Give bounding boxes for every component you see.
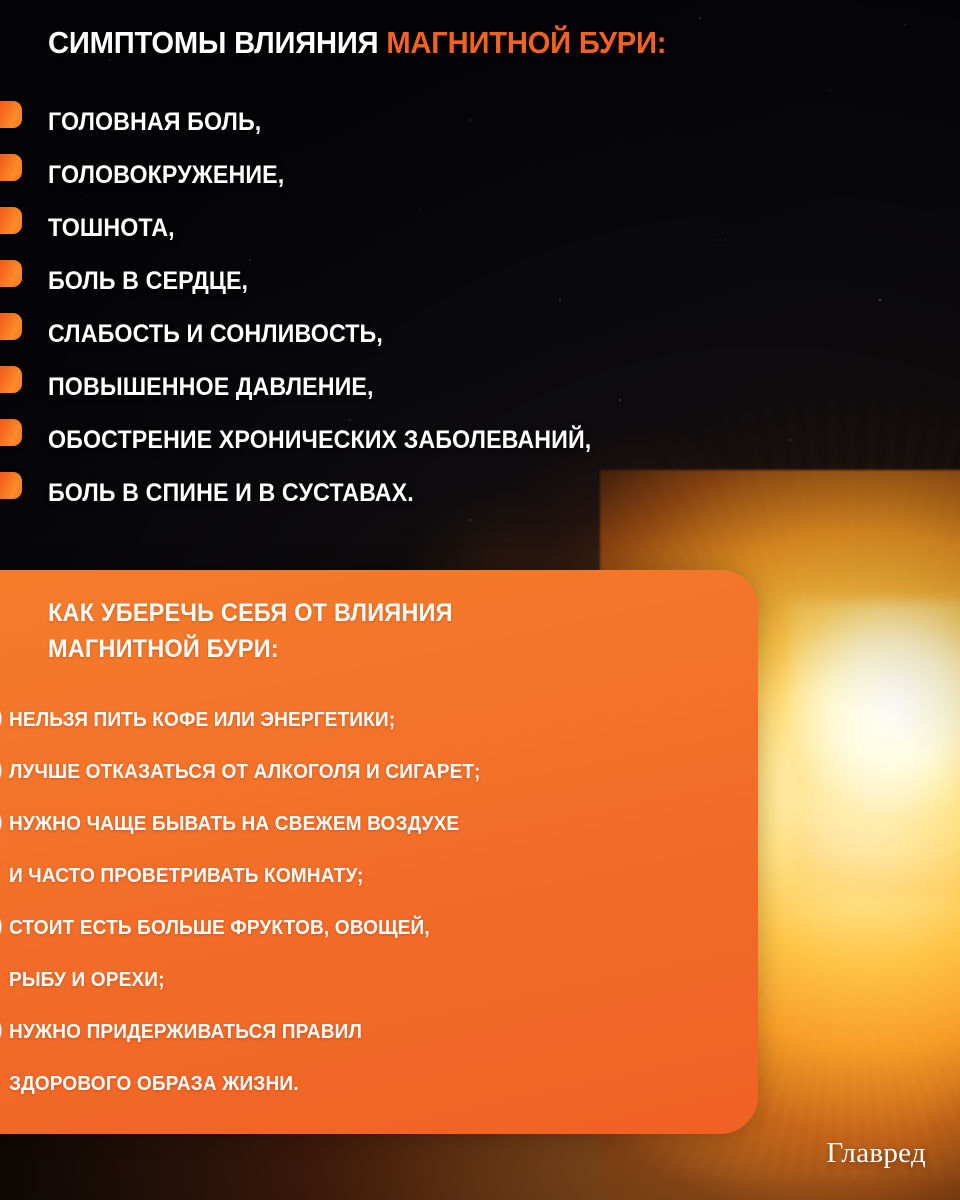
brand-watermark: Главред [827, 1137, 926, 1170]
tip-label: СТОИТ ЕСТЬ БОЛЬШЕ ФРУКТОВ, ОВОЩЕЙ, [9, 916, 430, 940]
tip-label: ЗДОРОВОГО ОБРАЗА ЖИЗНИ. [9, 1072, 299, 1096]
square-bullet-icon [0, 207, 22, 234]
list-item: НУЖНО ПРИДЕРЖИВАТЬСЯ ПРАВИЛ [0, 1006, 740, 1058]
list-item: СЛАБОСТЬ И СОНЛИВОСТЬ, [0, 308, 960, 361]
list-item: СТОИТ ЕСТЬ БОЛЬШЕ ФРУКТОВ, ОВОЩЕЙ, [0, 902, 740, 954]
square-bullet-icon [0, 154, 22, 181]
list-item: БОЛЬ В СЕРДЦЕ, [0, 255, 960, 308]
symptoms-list: ГОЛОВНАЯ БОЛЬ, ГОЛОВОКРУЖЕНИЕ, ТОШНОТА, … [0, 96, 960, 520]
tips-panel-title: КАК УБЕРЕЧЬ СЕБЯ ОТ ВЛИЯНИЯ МАГНИТНОЙ БУ… [48, 596, 453, 667]
tip-label: РЫБУ И ОРЕХИ; [9, 968, 165, 992]
content-layer: СИМПТОМЫ ВЛИЯНИЯ МАГНИТНОЙ БУРИ: ГОЛОВНА… [0, 0, 960, 1200]
symptom-label: ГОЛОВОКРУЖЕНИЕ, [48, 161, 284, 190]
symptom-label: ТОШНОТА, [48, 214, 175, 243]
tips-panel: КАК УБЕРЕЧЬ СЕБЯ ОТ ВЛИЯНИЯ МАГНИТНОЙ БУ… [0, 570, 758, 1134]
list-item-continuation: РЫБУ И ОРЕХИ; [0, 954, 740, 1006]
list-item-continuation: И ЧАСТО ПРОВЕТРИВАТЬ КОМНАТУ; [0, 850, 740, 902]
square-bullet-icon [0, 419, 22, 446]
list-item: ОБОСТРЕНИЕ ХРОНИЧЕСКИХ ЗАБОЛЕВАНИЙ, [0, 414, 960, 467]
symptom-label: БОЛЬ В СЕРДЦЕ, [48, 267, 248, 296]
list-item: ЛУЧШЕ ОТКАЗАТЬСЯ ОТ АЛКОГОЛЯ И СИГАРЕТ; [0, 746, 740, 798]
list-item: НЕЛЬЗЯ ПИТЬ КОФЕ ИЛИ ЭНЕРГЕТИКИ; [0, 694, 740, 746]
page-title: СИМПТОМЫ ВЛИЯНИЯ МАГНИТНОЙ БУРИ: [48, 26, 666, 60]
symptom-label: ПОВЫШЕННОЕ ДАВЛЕНИЕ, [48, 373, 374, 402]
tip-label: НЕЛЬЗЯ ПИТЬ КОФЕ ИЛИ ЭНЕРГЕТИКИ; [9, 708, 395, 732]
page-title-plain: СИМПТОМЫ ВЛИЯНИЯ [48, 25, 386, 60]
square-bullet-icon [0, 313, 22, 340]
tip-label: И ЧАСТО ПРОВЕТРИВАТЬ КОМНАТУ; [9, 864, 363, 888]
infographic-page: СИМПТОМЫ ВЛИЯНИЯ МАГНИТНОЙ БУРИ: ГОЛОВНА… [0, 0, 960, 1200]
list-item: ГОЛОВОКРУЖЕНИЕ, [0, 149, 960, 202]
tip-label: ЛУЧШЕ ОТКАЗАТЬСЯ ОТ АЛКОГОЛЯ И СИГАРЕТ; [9, 760, 480, 784]
tip-label: НУЖНО ПРИДЕРЖИВАТЬСЯ ПРАВИЛ [9, 1020, 362, 1044]
symptom-label: ОБОСТРЕНИЕ ХРОНИЧЕСКИХ ЗАБОЛЕВАНИЙ, [48, 426, 591, 455]
symptom-label: СЛАБОСТЬ И СОНЛИВОСТЬ, [48, 320, 383, 349]
square-bullet-icon [0, 366, 22, 393]
page-title-accent: МАГНИТНОЙ БУРИ: [386, 25, 666, 60]
square-bullet-icon [0, 101, 22, 128]
list-item-continuation: ЗДОРОВОГО ОБРАЗА ЖИЗНИ. [0, 1058, 740, 1110]
symptom-label: ГОЛОВНАЯ БОЛЬ, [48, 108, 261, 137]
list-item: ГОЛОВНАЯ БОЛЬ, [0, 96, 960, 149]
symptom-label: БОЛЬ В СПИНЕ И В СУСТАВАХ. [48, 479, 414, 508]
list-item: ПОВЫШЕННОЕ ДАВЛЕНИЕ, [0, 361, 960, 414]
tips-list: НЕЛЬЗЯ ПИТЬ КОФЕ ИЛИ ЭНЕРГЕТИКИ; ЛУЧШЕ О… [0, 694, 740, 1110]
list-item: ТОШНОТА, [0, 202, 960, 255]
square-bullet-icon [0, 260, 22, 287]
tip-label: НУЖНО ЧАЩЕ БЫВАТЬ НА СВЕЖЕМ ВОЗДУХЕ [9, 812, 459, 836]
list-item: НУЖНО ЧАЩЕ БЫВАТЬ НА СВЕЖЕМ ВОЗДУХЕ [0, 798, 740, 850]
list-item: БОЛЬ В СПИНЕ И В СУСТАВАХ. [0, 467, 960, 520]
square-bullet-icon [0, 472, 22, 499]
